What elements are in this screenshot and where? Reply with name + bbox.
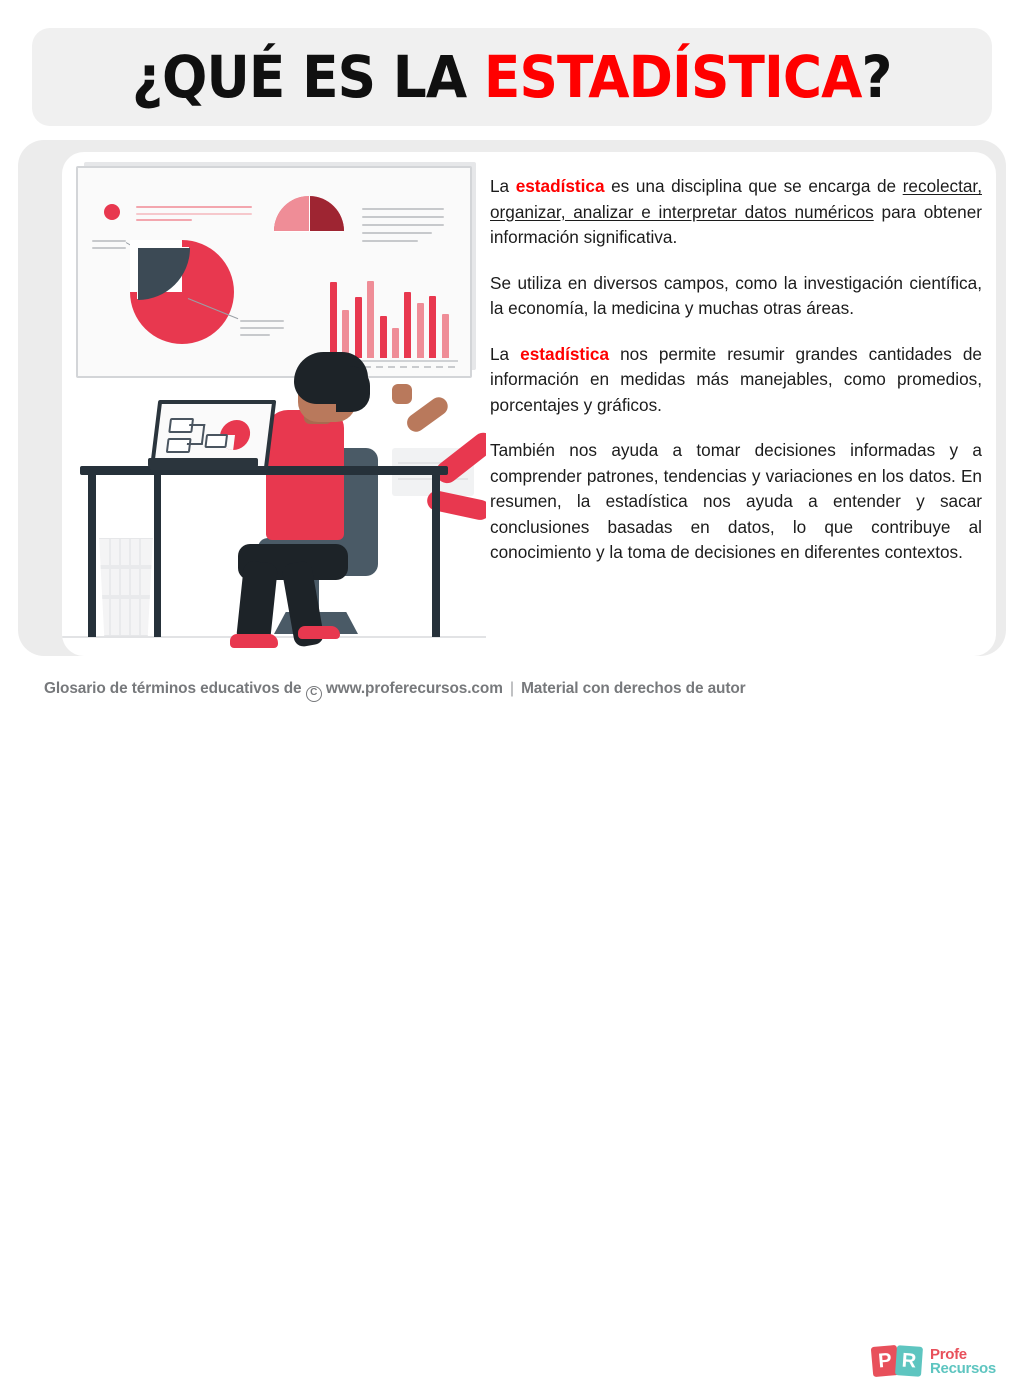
paragraph-p1: La estadística es una disciplina que se … bbox=[490, 174, 982, 251]
paragraph-p3: La estadística nos permite resumir grand… bbox=[490, 342, 982, 419]
title-red: ESTADÍSTICA bbox=[484, 43, 862, 111]
red-dot-icon bbox=[104, 204, 120, 220]
highlighted-term: estadística bbox=[516, 176, 605, 196]
title-question-mark: ? bbox=[862, 43, 892, 111]
footer-rights: Material con derechos de autor bbox=[521, 680, 746, 697]
person-hair-back bbox=[336, 366, 370, 412]
illustration bbox=[62, 152, 486, 656]
infographic-page: ¿QUÉ ES LA ESTADÍSTICA? bbox=[0, 0, 1024, 724]
person-pointing-hand bbox=[392, 384, 412, 404]
person-shoe-left bbox=[230, 634, 278, 648]
wastebasket bbox=[94, 538, 158, 636]
desk-leg-left bbox=[88, 475, 96, 637]
text-column: La estadística es una disciplina que se … bbox=[490, 174, 982, 566]
bar-4 bbox=[367, 281, 374, 358]
person-shoe-right bbox=[298, 626, 340, 639]
text-run: Se utiliza en diversos campos, como la i… bbox=[490, 273, 982, 319]
proferecursos-logo[interactable]: P R Profe Recursos bbox=[872, 1344, 1012, 1384]
laptop-base bbox=[148, 458, 258, 467]
desk-leg-right bbox=[432, 475, 440, 637]
bar-1 bbox=[330, 282, 337, 358]
footer: Glosario de términos educativos de C www… bbox=[0, 666, 1024, 724]
desk-leg-left-inner bbox=[154, 475, 161, 637]
whiteboard-bar-chart bbox=[330, 270, 454, 358]
footer-separator: | bbox=[507, 680, 517, 697]
highlighted-term: estadística bbox=[520, 344, 609, 364]
whiteboard bbox=[76, 166, 472, 378]
footer-prefix: Glosario de términos educativos de bbox=[44, 680, 301, 697]
logo-word-recursos: Recursos bbox=[930, 1361, 996, 1376]
inner-white-panel: La estadística es una disciplina que se … bbox=[62, 152, 996, 656]
text-run: La bbox=[490, 344, 520, 364]
main-content-card: La estadística es una disciplina que se … bbox=[18, 140, 1006, 656]
desk-scene bbox=[62, 348, 486, 656]
page-title: ¿QUÉ ES LA ESTADÍSTICA? bbox=[132, 48, 892, 106]
text-run: es una disciplina que se encarga de bbox=[605, 176, 903, 196]
footer-attribution: Glosario de términos educativos de C www… bbox=[44, 680, 746, 702]
text-run: También nos ayuda a tomar decisiones inf… bbox=[490, 440, 982, 562]
title-bar: ¿QUÉ ES LA ESTADÍSTICA? bbox=[32, 28, 992, 126]
logo-tile-r: R bbox=[895, 1345, 923, 1377]
person-torso bbox=[266, 410, 344, 540]
footer-site-link[interactable]: www.proferecursos.com bbox=[326, 680, 503, 697]
copyright-icon: C bbox=[306, 686, 322, 702]
person-shin-left bbox=[236, 560, 278, 645]
whiteboard-small-pie-chart bbox=[274, 196, 344, 266]
logo-word-profe: Profe bbox=[930, 1347, 967, 1362]
text-run: La bbox=[490, 176, 516, 196]
paragraph-p2: Se utiliza en diversos campos, como la i… bbox=[490, 271, 982, 322]
paragraph-p4: También nos ayuda a tomar decisiones inf… bbox=[490, 438, 982, 566]
title-black: ¿QUÉ ES LA bbox=[132, 43, 484, 111]
